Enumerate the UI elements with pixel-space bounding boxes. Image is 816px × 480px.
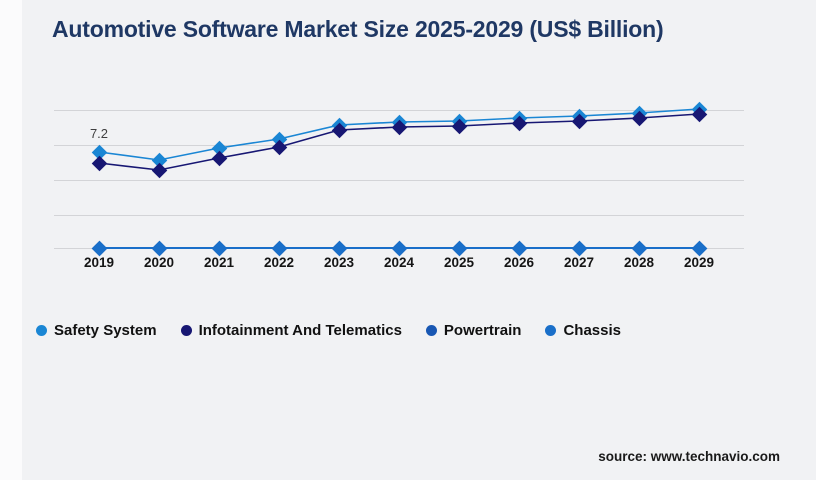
legend-item-powertrain[interactable]: Powertrain bbox=[426, 322, 522, 339]
legend-item-chassis[interactable]: Chassis bbox=[545, 322, 621, 339]
x-tick-label: 2021 bbox=[189, 255, 249, 270]
legend-dot-icon bbox=[36, 325, 47, 336]
data-point-marker bbox=[151, 162, 167, 178]
data-point-marker bbox=[391, 240, 407, 256]
gridline bbox=[54, 145, 744, 146]
x-tick-label: 2027 bbox=[549, 255, 609, 270]
legend-item-label: Powertrain bbox=[444, 322, 522, 339]
legend-dot-icon bbox=[181, 325, 192, 336]
data-point-marker bbox=[571, 240, 587, 256]
x-tick-label: 2028 bbox=[609, 255, 669, 270]
legend-item-label: Chassis bbox=[563, 322, 621, 339]
x-tick-label: 2020 bbox=[129, 255, 189, 270]
legend-dot-icon bbox=[545, 325, 556, 336]
x-tick-label: 2023 bbox=[309, 255, 369, 270]
data-point-marker bbox=[511, 240, 527, 256]
gridline bbox=[54, 180, 744, 181]
legend-item-safety-system[interactable]: Safety System bbox=[36, 322, 157, 339]
data-point-marker bbox=[211, 150, 227, 166]
chart-legend: Safety SystemInfotainment And Telematics… bbox=[36, 322, 645, 339]
data-point-marker bbox=[271, 240, 287, 256]
data-point-marker bbox=[211, 240, 227, 256]
data-point-marker bbox=[91, 155, 107, 171]
legend-item-infotainment-and-telematics[interactable]: Infotainment And Telematics bbox=[181, 322, 402, 339]
data-point-marker bbox=[331, 240, 347, 256]
legend-item-label: Infotainment And Telematics bbox=[199, 322, 402, 339]
x-tick-label: 2022 bbox=[249, 255, 309, 270]
x-tick-label: 2026 bbox=[489, 255, 549, 270]
x-tick-label: 2019 bbox=[69, 255, 129, 270]
data-point-marker bbox=[91, 240, 107, 256]
data-point-marker bbox=[451, 240, 467, 256]
data-point-marker bbox=[691, 240, 707, 256]
x-tick-label: 2024 bbox=[369, 255, 429, 270]
legend-dot-icon bbox=[426, 325, 437, 336]
gridline bbox=[54, 215, 744, 216]
legend-item-label: Safety System bbox=[54, 322, 157, 339]
chart-canvas: Automotive Software Market Size 2025-202… bbox=[0, 0, 816, 480]
x-tick-label: 2029 bbox=[669, 255, 729, 270]
data-point-marker bbox=[151, 240, 167, 256]
data-label-7-2: 7.2 bbox=[79, 126, 119, 141]
data-point-marker bbox=[631, 240, 647, 256]
source-attribution: source: www.technavio.com bbox=[598, 449, 780, 464]
x-tick-label: 2025 bbox=[429, 255, 489, 270]
plot-area: 2019202020212022202320242025202620272028… bbox=[0, 0, 816, 300]
